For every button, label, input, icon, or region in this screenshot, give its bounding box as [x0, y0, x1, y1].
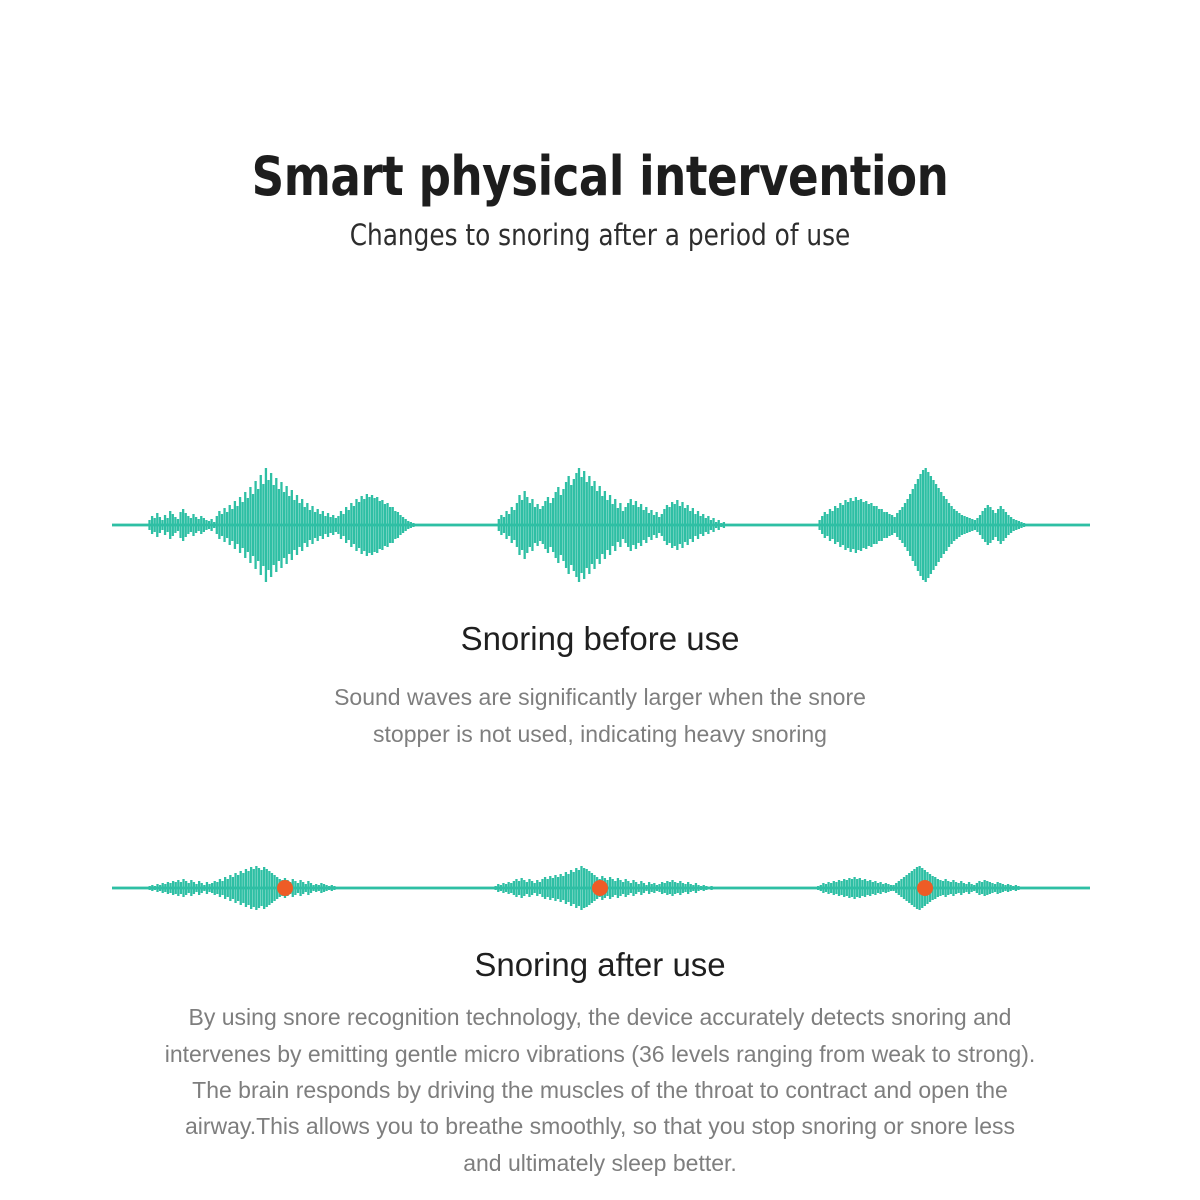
waveform-bar — [692, 885, 694, 891]
waveform-bar — [335, 518, 337, 532]
waveform-bar — [528, 879, 530, 897]
waveform-bar — [518, 881, 520, 895]
waveform-bar — [586, 482, 588, 568]
waveform-bar — [266, 869, 268, 907]
waveform-bar — [883, 512, 885, 538]
waveform-bar — [894, 517, 896, 533]
waveform-bar — [523, 880, 525, 896]
waveform-bar — [976, 518, 978, 532]
waveform-bar — [221, 881, 223, 895]
waveform-bar — [557, 877, 559, 899]
section-body-after: By using snore recognition technology, t… — [60, 999, 1140, 1181]
waveform-bar — [531, 499, 533, 551]
waveform-bar — [252, 494, 254, 556]
waveform-bar — [853, 877, 855, 899]
waveform-peak-marker — [277, 880, 293, 896]
waveform-bar — [684, 508, 686, 542]
waveform-bar — [386, 503, 388, 547]
waveform-bar — [206, 882, 208, 894]
waveform-bar — [1015, 520, 1017, 530]
waveform-bar — [939, 880, 941, 896]
waveform-bar — [268, 871, 270, 905]
waveform-bar — [655, 512, 657, 538]
waveform-bar — [560, 874, 562, 902]
waveform-bar — [630, 883, 632, 893]
waveform-bar — [1002, 884, 1004, 892]
waveform-bar — [151, 885, 153, 891]
waveform-bar — [265, 468, 267, 582]
waveform-bar — [565, 872, 567, 904]
waveform-bar — [888, 514, 890, 536]
waveform-bar — [315, 884, 317, 892]
waveform-bar — [500, 515, 502, 535]
waveform-bar — [542, 506, 544, 544]
waveform-bar — [974, 520, 976, 530]
waveform-after-use-chart — [0, 845, 1200, 935]
waveform-bar — [555, 492, 557, 558]
waveform-bar — [149, 886, 151, 890]
waveform-bar — [410, 522, 412, 528]
waveform-bar — [311, 506, 313, 544]
waveform-bar — [500, 885, 502, 891]
waveform-bar — [511, 507, 513, 543]
waveform-bar — [151, 516, 153, 534]
waveform-bar — [679, 506, 681, 544]
waveform-bar — [872, 882, 874, 894]
waveform-bar — [905, 875, 907, 901]
waveform-bar — [310, 883, 312, 893]
waveform-bar — [539, 509, 541, 541]
waveform-bar — [684, 884, 686, 892]
waveform-bar — [240, 871, 242, 905]
waveform-bar — [689, 511, 691, 539]
waveform-bar — [541, 879, 543, 897]
waveform-bar — [661, 514, 663, 536]
waveform-bar — [1012, 886, 1014, 890]
waveform-bar — [312, 885, 314, 891]
waveform-bar — [843, 879, 845, 897]
waveform-bar — [169, 883, 171, 893]
waveform-bar — [162, 883, 164, 893]
waveform-bar — [1013, 519, 1015, 531]
waveform-bar — [868, 504, 870, 546]
waveform-bar — [288, 496, 290, 554]
waveform-bar — [666, 505, 668, 545]
waveform-bar — [247, 498, 249, 552]
waveform-bar — [223, 508, 225, 542]
waveform-bar — [407, 521, 409, 529]
waveform-bar — [930, 476, 932, 574]
waveform-bar — [179, 512, 181, 538]
waveform-bar — [397, 512, 399, 538]
waveform-bar — [891, 515, 893, 535]
waveform-bar — [154, 518, 156, 532]
waveform-bar — [1004, 885, 1006, 891]
waveform-bar — [275, 478, 277, 572]
waveform-bar — [942, 881, 944, 895]
waveform-bar — [568, 476, 570, 574]
waveform-bar — [609, 877, 611, 899]
waveform-bar — [331, 885, 333, 891]
waveform-bar — [521, 500, 523, 550]
waveform-bar — [340, 511, 342, 539]
waveform-bar — [529, 503, 531, 547]
section-body-before: Sound waves are significantly larger whe… — [250, 679, 950, 752]
waveform-bar — [562, 489, 564, 561]
waveform-bar — [913, 869, 915, 907]
waveform-bar — [961, 515, 963, 535]
waveform-bar — [379, 501, 381, 549]
waveform-bar — [1018, 521, 1020, 529]
waveform-bar — [627, 503, 629, 547]
waveform-bar — [502, 883, 504, 893]
waveform-bar — [557, 487, 559, 563]
waveform-bar — [1007, 884, 1009, 892]
waveform-bar — [682, 883, 684, 893]
waveform-bar — [549, 503, 551, 547]
waveform-bar — [521, 878, 523, 898]
waveform-bar — [247, 871, 249, 905]
waveform-bar — [210, 519, 212, 531]
waveform-bar — [630, 499, 632, 551]
page-header: Smart physical intervention Changes to s… — [0, 148, 1200, 253]
waveform-bar — [833, 881, 835, 895]
waveform-bar — [258, 868, 260, 908]
waveform-bar — [304, 507, 306, 543]
waveform-bar — [161, 520, 163, 530]
waveform-bar — [864, 879, 866, 897]
waveform-bar — [914, 484, 916, 566]
waveform-bar — [219, 879, 221, 897]
waveform-bar — [847, 502, 849, 548]
waveform-bar — [676, 500, 678, 550]
waveform-bar — [834, 506, 836, 544]
waveform-bar — [320, 883, 322, 893]
waveform-bar — [596, 491, 598, 559]
waveform-bar — [381, 500, 383, 550]
waveform-bar — [232, 877, 234, 899]
waveform-bar — [601, 496, 603, 554]
waveform-bar — [227, 879, 229, 897]
waveform-bar — [389, 507, 391, 543]
waveform-bar — [1010, 517, 1012, 533]
waveform-bar — [1020, 522, 1022, 528]
waveform-bars — [148, 468, 1025, 582]
waveform-bar — [648, 882, 650, 894]
waveform-bar — [715, 522, 717, 528]
waveform-bar — [583, 471, 585, 579]
waveform-bar — [325, 885, 327, 891]
section-heading-before: Snoring before use — [0, 618, 1200, 659]
waveform-bar — [895, 883, 897, 893]
waveform-bar — [640, 881, 642, 895]
waveform-bar — [822, 883, 824, 893]
waveform-bar — [925, 468, 927, 582]
waveform-bar — [254, 481, 256, 569]
waveform-bar — [875, 506, 877, 544]
waveform-bar — [614, 499, 616, 551]
waveform-bar — [873, 506, 875, 544]
waveform-bar — [934, 877, 936, 899]
waveform-bar — [358, 502, 360, 548]
waveform-bar — [273, 875, 275, 901]
waveform-bar — [323, 884, 325, 892]
waveform-bar — [208, 521, 210, 529]
waveform-bar — [638, 884, 640, 892]
waveform-peak-marker — [592, 880, 608, 896]
waveform-bar — [869, 880, 871, 896]
waveform-bar — [164, 884, 166, 892]
waveform-bar — [299, 880, 301, 896]
waveform-bar — [497, 884, 499, 892]
waveform-bar — [236, 506, 238, 544]
waveform-bar — [997, 882, 999, 894]
waveform-bar — [586, 869, 588, 907]
waveform-bar — [606, 500, 608, 550]
waveform-bar — [890, 885, 892, 891]
page-title: Smart physical intervention — [42, 148, 1158, 206]
waveform-bar — [651, 884, 653, 892]
waveform-bar — [640, 504, 642, 546]
waveform-bar — [856, 879, 858, 897]
waveform-peak-marker — [917, 880, 933, 896]
waveform-bar — [617, 508, 619, 542]
waveform-bar — [653, 515, 655, 535]
waveform-bar — [624, 507, 626, 543]
waveform-bar — [818, 520, 820, 530]
waveform-bar — [658, 884, 660, 892]
waveform-bar — [322, 511, 324, 539]
waveform-bar — [617, 878, 619, 898]
waveform-bar — [971, 519, 973, 531]
waveform-bar — [984, 880, 986, 896]
waveform-bar — [262, 484, 264, 566]
waveform-bar — [677, 883, 679, 893]
waveform-bar — [250, 867, 252, 909]
waveform-bar — [412, 523, 414, 527]
waveform-bar — [242, 873, 244, 903]
waveform-bar — [653, 883, 655, 893]
waveform-bar — [912, 489, 914, 561]
waveform-bar — [645, 885, 647, 891]
waveform-bar — [291, 490, 293, 560]
waveform-bar — [948, 503, 950, 547]
waveform-bar — [218, 511, 220, 539]
waveform-bar — [976, 883, 978, 893]
waveform-bar — [175, 882, 177, 894]
waveform-bar — [221, 514, 223, 536]
waveform-bar — [327, 513, 329, 537]
waveform-bar — [881, 509, 883, 541]
waveform-bar — [661, 882, 663, 894]
waveform-bar — [703, 885, 705, 891]
waveform-bar — [671, 880, 673, 896]
waveform-bar — [612, 879, 614, 897]
waveform-bar — [835, 882, 837, 894]
waveform-bar — [554, 875, 556, 901]
waveform-bar — [874, 881, 876, 895]
waveform-after-use-svg — [0, 845, 1200, 935]
waveform-bar — [578, 468, 580, 582]
waveform-bar — [231, 509, 233, 541]
waveform-bar — [166, 518, 168, 532]
waveform-bar — [593, 481, 595, 569]
waveform-bar — [940, 492, 942, 558]
waveform-bar — [552, 878, 554, 898]
waveform-bar — [402, 517, 404, 533]
waveform-bar — [622, 882, 624, 894]
waveform-bar — [333, 886, 335, 890]
waveform-bar — [943, 496, 945, 554]
waveform-bar — [190, 880, 192, 896]
waveform-bar — [945, 499, 947, 551]
waveform-bar — [870, 503, 872, 547]
waveform-bar — [932, 480, 934, 570]
waveform-bar — [844, 500, 846, 550]
waveform-bar — [999, 883, 1001, 893]
waveform-bar — [244, 492, 246, 558]
waveform-bar — [720, 523, 722, 527]
waveform-bar — [201, 883, 203, 893]
waveform-bar — [526, 497, 528, 553]
waveform-bar — [604, 491, 606, 559]
waveform-bar — [658, 517, 660, 533]
waveform-bar — [495, 886, 497, 890]
waveform-bar — [625, 879, 627, 897]
waveform-bar — [619, 880, 621, 896]
waveform-bar — [177, 519, 179, 531]
waveform-bar — [723, 522, 725, 528]
waveform-bar — [898, 881, 900, 895]
waveform-bar — [575, 868, 577, 908]
waveform-bar — [580, 866, 582, 910]
waveform-bar — [513, 510, 515, 540]
waveform-bar — [271, 873, 273, 903]
waveform-bar — [567, 874, 569, 902]
waveform-bar — [526, 882, 528, 894]
waveform-bar — [899, 510, 901, 540]
waveform-bar — [588, 476, 590, 574]
waveform-bar — [203, 885, 205, 891]
waveform-bar — [273, 485, 275, 565]
waveform-bar — [963, 516, 965, 534]
waveform-bar — [852, 501, 854, 549]
waveform-bar — [255, 866, 257, 910]
waveform-bar — [1017, 886, 1019, 890]
waveform-bar — [539, 882, 541, 894]
waveform-bar — [917, 479, 919, 571]
waveform-bar — [208, 884, 210, 892]
waveform-bar — [825, 884, 827, 892]
waveform-bar — [234, 501, 236, 549]
waveform-bar — [213, 522, 215, 528]
waveform-bar — [195, 884, 197, 892]
waveform-bar — [831, 511, 833, 539]
waveform-bar — [159, 885, 161, 891]
waveform-bar — [830, 883, 832, 893]
waveform-bar — [328, 886, 330, 890]
waveform-bar — [583, 868, 585, 908]
waveform-bar — [950, 882, 952, 894]
waveform-bar — [994, 513, 996, 537]
waveform-bar — [337, 516, 339, 534]
waveform-bar — [622, 511, 624, 539]
waveform-bar — [332, 515, 334, 535]
waveform-bar — [192, 514, 194, 536]
waveform-bar — [851, 879, 853, 897]
waveform-bar — [361, 496, 363, 554]
waveform-bar — [182, 509, 184, 541]
waveform-bar — [989, 507, 991, 543]
waveform-bar — [842, 505, 844, 545]
waveform-bar — [376, 497, 378, 553]
waveform-bar — [903, 877, 905, 899]
waveform-bar — [906, 499, 908, 551]
waveform-bar — [922, 470, 924, 580]
waveform-bar — [953, 509, 955, 541]
waveform-bar — [695, 883, 697, 893]
waveform-bar — [839, 503, 841, 547]
waveform-bar — [205, 520, 207, 530]
waveform-bar — [319, 514, 321, 536]
waveform-bar — [955, 882, 957, 894]
waveform-bar — [862, 502, 864, 548]
waveform-bar — [148, 520, 150, 530]
waveform-bar — [505, 511, 507, 539]
waveform-bar — [293, 500, 295, 550]
waveform-bar — [671, 502, 673, 548]
waveform-bar — [302, 882, 304, 894]
waveform-bar — [536, 880, 538, 896]
waveform-bar — [697, 885, 699, 891]
waveform-bar — [664, 883, 666, 893]
waveform-bar — [263, 867, 265, 909]
waveform-bar — [989, 882, 991, 894]
waveform-bar — [298, 503, 300, 547]
waveform-bar — [195, 517, 197, 533]
waveform-bar — [156, 513, 158, 537]
waveform-bar — [911, 871, 913, 905]
waveform-bar — [700, 886, 702, 890]
waveform-bar — [353, 506, 355, 544]
waveform-bar — [515, 879, 517, 897]
waveform-bar — [185, 881, 187, 895]
waveform-bar — [270, 473, 272, 577]
waveform-bar — [342, 514, 344, 536]
waveform-bar — [573, 872, 575, 904]
waveform-bar — [643, 510, 645, 540]
waveform-bar — [981, 882, 983, 894]
waveform-bar — [260, 870, 262, 906]
waveform-bar — [669, 882, 671, 894]
waveform-bar — [544, 501, 546, 549]
waveform-bar — [324, 516, 326, 534]
waveform-bar — [986, 881, 988, 895]
waveform-bar — [229, 875, 231, 901]
waveform-bar — [1002, 509, 1004, 541]
waveform-bar — [211, 883, 213, 893]
waveform-bar — [198, 519, 200, 531]
waveform-bar — [900, 879, 902, 897]
waveform-bar — [329, 517, 331, 533]
waveform-bar — [278, 489, 280, 561]
waveform-bar — [702, 514, 704, 536]
waveform-bar — [710, 886, 712, 890]
waveform-bar — [904, 503, 906, 547]
waveform-bar — [826, 514, 828, 536]
waveform-bar — [307, 881, 309, 895]
waveform-bar — [645, 507, 647, 543]
